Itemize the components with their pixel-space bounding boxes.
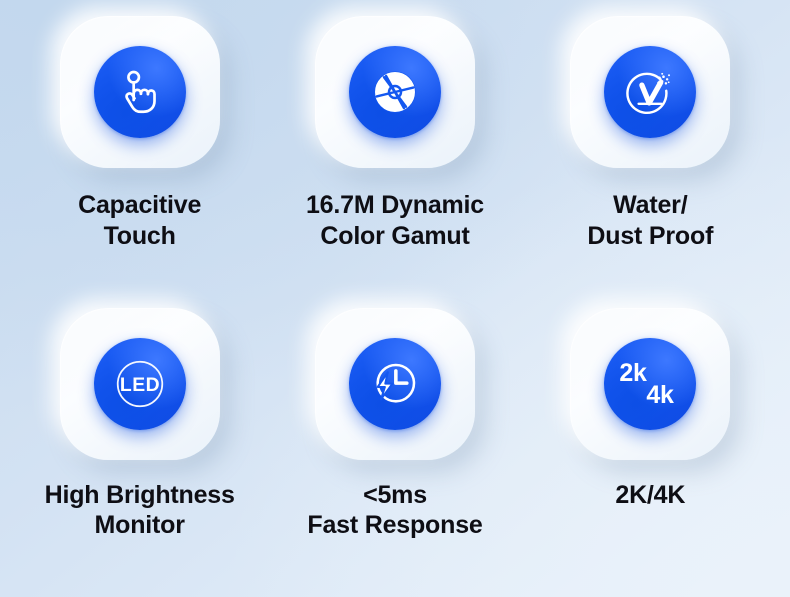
feature-tile: 2k 4k [570, 308, 730, 460]
feature-icon-badge [349, 338, 441, 430]
feature-tile [315, 16, 475, 168]
feature-grid: Capacitive Touch [0, 0, 790, 597]
led-icon-label: LED [120, 373, 160, 395]
led-circle-icon: LED [109, 353, 171, 415]
feature-icon-badge: LED [94, 338, 186, 430]
feature-label: <5ms Fast Response [307, 480, 482, 541]
resolution-2k-4k-icon: 2k 4k [618, 356, 682, 412]
touch-hand-icon [113, 65, 167, 119]
feature-card-water-dust-proof[interactable]: Water/ Dust Proof [523, 8, 778, 300]
feature-tile [570, 16, 730, 168]
water-dust-proof-icon [624, 66, 676, 118]
camera-aperture-icon [369, 66, 421, 118]
feature-tile [315, 308, 475, 460]
feature-card-fast-response[interactable]: <5ms Fast Response [267, 300, 522, 592]
feature-card-high-brightness[interactable]: LED High Brightness Monitor [12, 300, 267, 592]
feature-card-color-gamut[interactable]: 16.7M Dynamic Color Gamut [267, 8, 522, 300]
resolution-2k-label: 2k [620, 359, 648, 387]
feature-label: 2K/4K [615, 480, 685, 511]
resolution-4k-label: 4k [647, 381, 675, 409]
feature-label: High Brightness Monitor [45, 480, 235, 541]
clock-lightning-icon [368, 357, 422, 411]
feature-icon-badge [349, 46, 441, 138]
feature-label: Capacitive Touch [78, 190, 201, 251]
feature-tile: LED [60, 308, 220, 460]
feature-highlights-panel: Capacitive Touch [0, 0, 790, 597]
feature-label: 16.7M Dynamic Color Gamut [306, 190, 484, 251]
feature-icon-badge: 2k 4k [604, 338, 696, 430]
feature-label: Water/ Dust Proof [587, 190, 713, 251]
feature-icon-badge [94, 46, 186, 138]
feature-icon-badge [604, 46, 696, 138]
feature-card-capacitive-touch[interactable]: Capacitive Touch [12, 8, 267, 300]
feature-tile [60, 16, 220, 168]
feature-card-resolution[interactable]: 2k 4k 2K/4K [523, 300, 778, 592]
